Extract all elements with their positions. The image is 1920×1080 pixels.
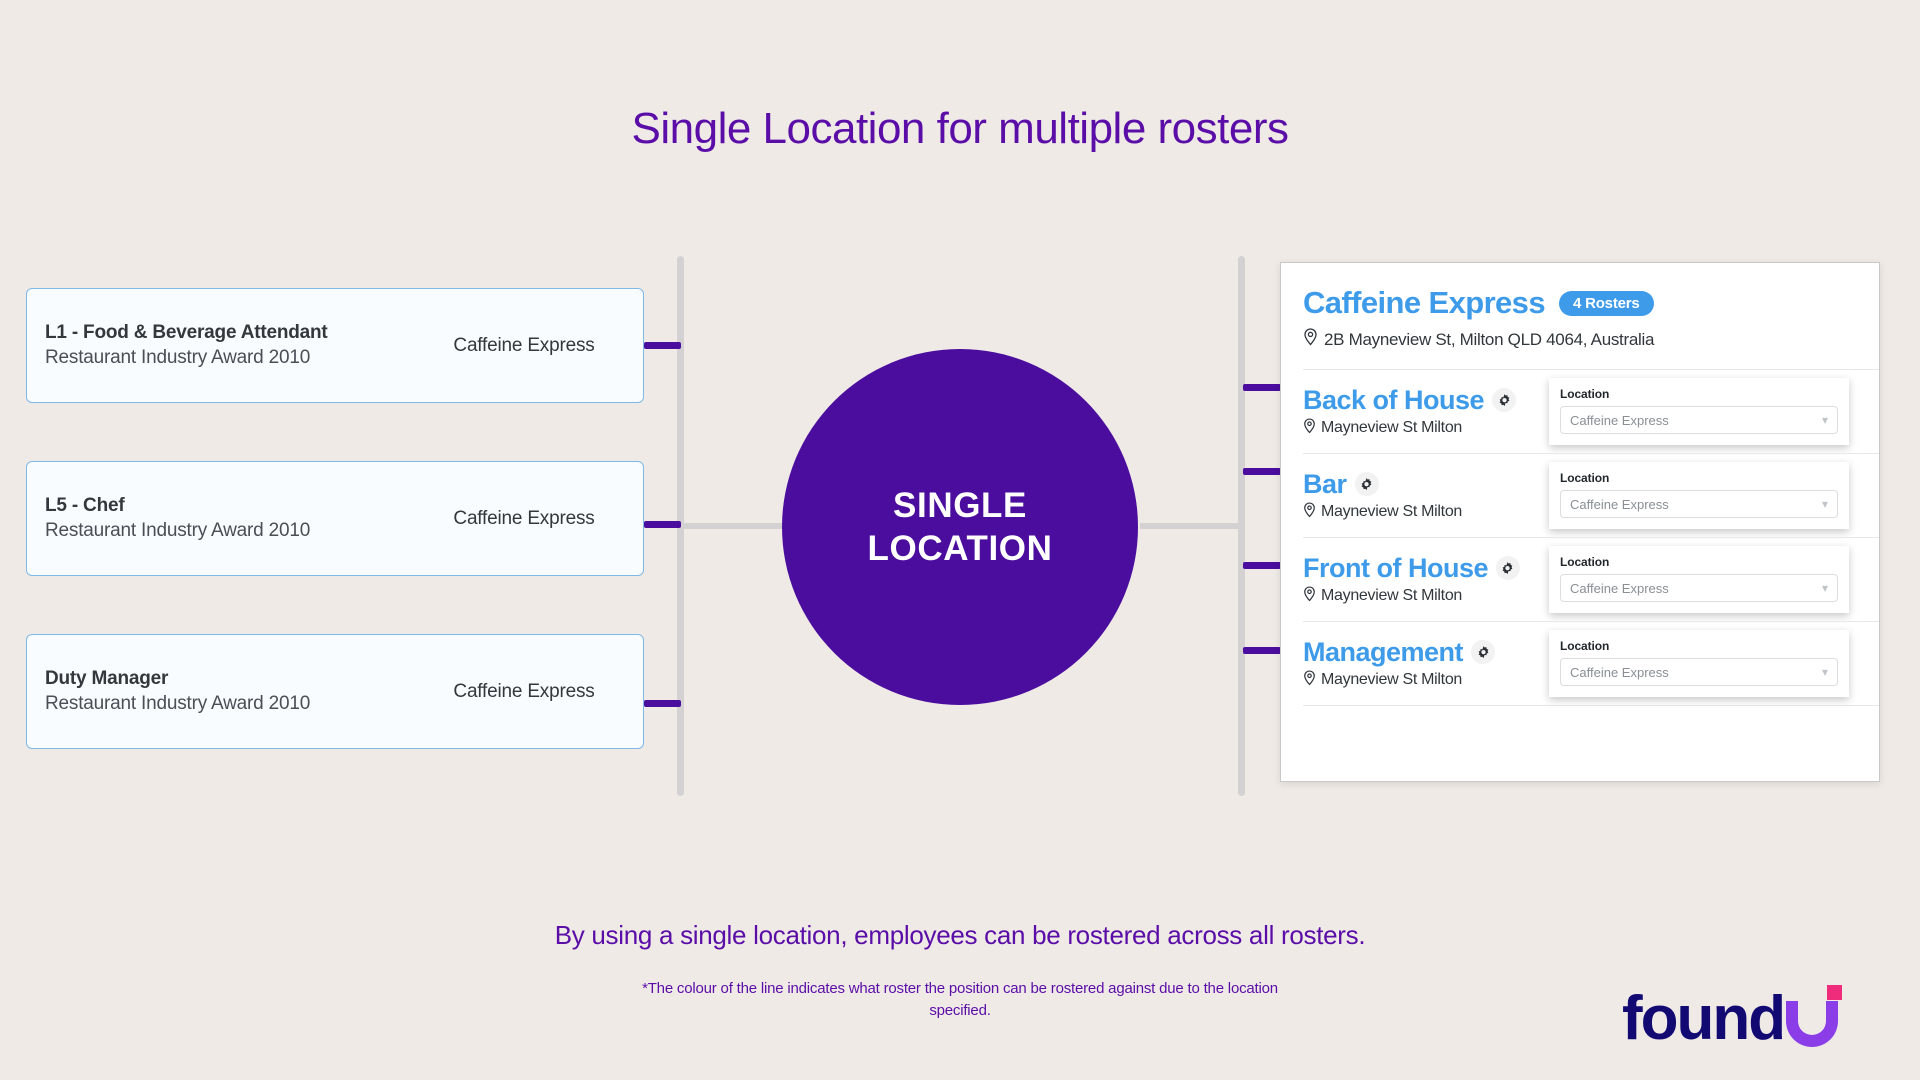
logo-wordmark: found <box>1622 991 1784 1047</box>
roster-info: Management Mayneview St Milton <box>1303 637 1549 691</box>
location-select[interactable]: Caffeine Express ▾ <box>1560 658 1838 686</box>
map-pin-icon <box>1303 670 1316 691</box>
logo-u-shape <box>1786 1001 1838 1047</box>
rosters-count-badge: 4 Rosters <box>1559 291 1654 316</box>
connector-stub-roster-4 <box>1243 647 1281 654</box>
roster-row[interactable]: Bar Mayneview St Milton <box>1303 453 1879 537</box>
chevron-down-icon: ▾ <box>1822 497 1828 511</box>
roster-name-row: Front of House <box>1303 553 1549 584</box>
connector-bus-right <box>1238 256 1245 796</box>
roster-address-row: Mayneview St Milton <box>1303 502 1549 523</box>
position-text-group: Duty Manager Restaurant Industry Award 2… <box>45 668 445 715</box>
foundu-logo: found <box>1622 985 1840 1047</box>
chevron-down-icon: ▾ <box>1822 665 1828 679</box>
connector-stub-position-3 <box>644 700 681 707</box>
position-location: Caffeine Express <box>445 681 613 703</box>
location-field-label: Location <box>1560 387 1838 401</box>
connector-stub-roster-3 <box>1243 562 1281 569</box>
location-field-card: Location Caffeine Express ▾ <box>1549 378 1849 445</box>
roster-list-bottom-divider <box>1303 705 1879 706</box>
location-select[interactable]: Caffeine Express ▾ <box>1560 490 1838 518</box>
position-award: Restaurant Industry Award 2010 <box>45 347 445 369</box>
connector-stub-roster-1 <box>1243 384 1281 391</box>
location-select-value: Caffeine Express <box>1570 665 1669 680</box>
map-pin-icon <box>1303 418 1316 439</box>
position-location: Caffeine Express <box>445 508 613 530</box>
roster-address: Mayneview St Milton <box>1321 671 1462 689</box>
location-select[interactable]: Caffeine Express ▾ <box>1560 574 1838 602</box>
roster-panel-address: 2B Mayneview St, Milton QLD 4064, Austra… <box>1324 330 1654 350</box>
roster-panel-title-row: Caffeine Express 4 Rosters <box>1303 285 1879 321</box>
roster-panel-header: Caffeine Express 4 Rosters 2B Mayneview … <box>1281 263 1879 351</box>
roster-panel-address-row: 2B Mayneview St, Milton QLD 4064, Austra… <box>1303 328 1879 351</box>
connector-line-center-left <box>684 523 782 529</box>
position-award: Restaurant Industry Award 2010 <box>45 693 445 715</box>
location-select[interactable]: Caffeine Express ▾ <box>1560 406 1838 434</box>
map-pin-icon <box>1303 328 1318 351</box>
chevron-down-icon: ▾ <box>1822 413 1828 427</box>
logo-dot-square <box>1827 985 1842 1000</box>
location-select-value: Caffeine Express <box>1570 413 1669 428</box>
position-title: L5 - Chef <box>45 495 445 517</box>
roster-name-row: Bar <box>1303 469 1549 500</box>
position-card[interactable]: L5 - Chef Restaurant Industry Award 2010… <box>26 461 644 576</box>
connector-line-center-right <box>1140 523 1238 529</box>
roster-row[interactable]: Management Mayneview St Milton <box>1303 621 1879 705</box>
gear-icon[interactable] <box>1471 640 1495 664</box>
roster-info: Back of House Mayneview St Milton <box>1303 385 1549 439</box>
map-pin-icon <box>1303 502 1316 523</box>
location-field-label: Location <box>1560 471 1838 485</box>
gear-icon[interactable] <box>1496 556 1520 580</box>
location-field-label: Location <box>1560 639 1838 653</box>
single-location-circle: SINGLE LOCATION <box>782 349 1138 705</box>
circle-line-2: LOCATION <box>868 527 1053 570</box>
position-location: Caffeine Express <box>445 335 613 357</box>
position-card[interactable]: L1 - Food & Beverage Attendant Restauran… <box>26 288 644 403</box>
position-title: Duty Manager <box>45 668 445 690</box>
roster-info: Bar Mayneview St Milton <box>1303 469 1549 523</box>
position-card[interactable]: Duty Manager Restaurant Industry Award 2… <box>26 634 644 749</box>
roster-name[interactable]: Front of House <box>1303 553 1488 584</box>
roster-panel: Caffeine Express 4 Rosters 2B Mayneview … <box>1280 262 1880 782</box>
roster-address: Mayneview St Milton <box>1321 587 1462 605</box>
roster-address: Mayneview St Milton <box>1321 419 1462 437</box>
roster-address-row: Mayneview St Milton <box>1303 418 1549 439</box>
roster-info: Front of House Mayneview St Milton <box>1303 553 1549 607</box>
roster-address-row: Mayneview St Milton <box>1303 586 1549 607</box>
roster-address-row: Mayneview St Milton <box>1303 670 1549 691</box>
position-text-group: L1 - Food & Beverage Attendant Restauran… <box>45 322 445 369</box>
location-select-value: Caffeine Express <box>1570 581 1669 596</box>
position-text-group: L5 - Chef Restaurant Industry Award 2010 <box>45 495 445 542</box>
roster-name-row: Management <box>1303 637 1549 668</box>
gear-icon[interactable] <box>1355 472 1379 496</box>
gear-icon[interactable] <box>1492 388 1516 412</box>
roster-panel-location-name[interactable]: Caffeine Express <box>1303 285 1545 321</box>
roster-name[interactable]: Management <box>1303 637 1463 668</box>
roster-row[interactable]: Front of House Mayneview St Milton <box>1303 537 1879 621</box>
footer-caption: By using a single location, employees ca… <box>0 920 1920 951</box>
logo-u-mark <box>1786 985 1840 1047</box>
position-award: Restaurant Industry Award 2010 <box>45 520 445 542</box>
location-field-card: Location Caffeine Express ▾ <box>1549 630 1849 697</box>
chevron-down-icon: ▾ <box>1822 581 1828 595</box>
roster-row[interactable]: Back of House Mayneview St Milton <box>1303 369 1879 453</box>
footer-note: *The colour of the line indicates what r… <box>620 978 1300 1022</box>
connector-stub-position-2 <box>644 521 681 528</box>
location-field-card: Location Caffeine Express ▾ <box>1549 462 1849 529</box>
location-select-value: Caffeine Express <box>1570 497 1669 512</box>
connector-stub-position-1 <box>644 342 681 349</box>
roster-name[interactable]: Bar <box>1303 469 1347 500</box>
connector-stub-roster-2 <box>1243 468 1281 475</box>
circle-line-1: SINGLE <box>893 484 1027 527</box>
roster-name-row: Back of House <box>1303 385 1549 416</box>
positions-list: L1 - Food & Beverage Attendant Restauran… <box>26 288 644 807</box>
location-field-label: Location <box>1560 555 1838 569</box>
position-title: L1 - Food & Beverage Attendant <box>45 322 445 344</box>
page-title: Single Location for multiple rosters <box>0 104 1920 154</box>
roster-name[interactable]: Back of House <box>1303 385 1484 416</box>
location-field-card: Location Caffeine Express ▾ <box>1549 546 1849 613</box>
roster-address: Mayneview St Milton <box>1321 503 1462 521</box>
map-pin-icon <box>1303 586 1316 607</box>
